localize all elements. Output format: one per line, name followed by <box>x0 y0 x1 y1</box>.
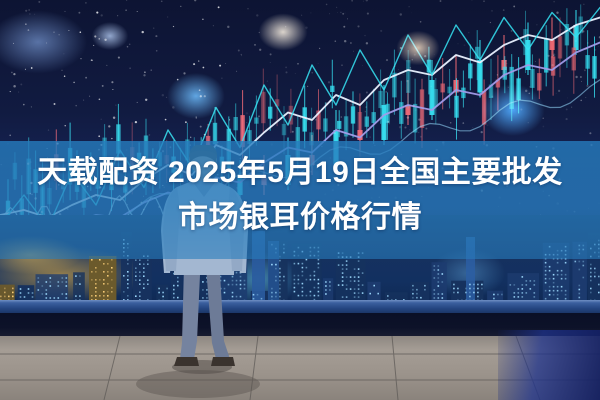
title-container: 天载配资 2025年5月19日全国主要批发市场银耳价格行情 <box>0 150 600 240</box>
hero-banner: 天载配资 2025年5月19日全国主要批发市场银耳价格行情 <box>0 0 600 400</box>
floor-edge-glow <box>498 330 600 400</box>
page-title: 天载配资 2025年5月19日全国主要批发市场银耳价格行情 <box>22 150 578 240</box>
